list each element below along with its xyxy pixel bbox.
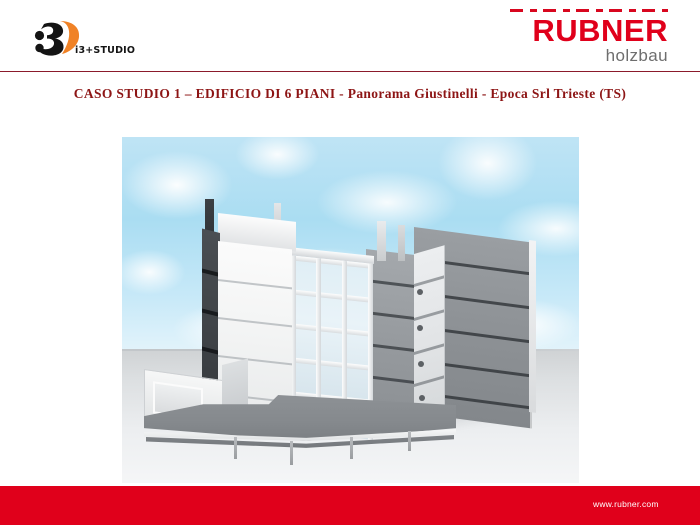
render-pilotis-column	[290, 441, 293, 465]
render-connector-stud	[417, 289, 423, 295]
render-grey-tower-fin	[377, 221, 386, 261]
render-grey-tower-side	[414, 245, 445, 420]
footer-website-url[interactable]: www.rubner.com	[593, 499, 659, 509]
slide-header: i3+STUDIO RUBNER holzbau	[0, 0, 700, 72]
rubner-logo: RUBNER holzbau	[488, 12, 668, 64]
render-connector-stud	[418, 361, 424, 367]
render-grey-tower-fin	[398, 225, 405, 261]
rubner-dashed-rule	[510, 9, 668, 12]
render-connector-stud	[417, 325, 423, 331]
header-divider	[0, 71, 700, 72]
render-grey-tower-front	[366, 249, 418, 423]
footer-bar: www.rubner.com	[0, 486, 700, 525]
rubner-subtitle: holzbau	[488, 46, 668, 65]
page-title: CASO STUDIO 1 – EDIFICIO DI 6 PIANI - Pa…	[0, 86, 700, 102]
slide-canvas: i3+STUDIO RUBNER holzbau CASO STUDIO 1 –…	[0, 0, 700, 525]
render-pilotis-column	[408, 431, 411, 451]
architectural-render-image	[122, 137, 579, 483]
rubner-wordmark: RUBNER	[488, 16, 668, 46]
studio-logo: i3+STUDIO	[30, 18, 150, 62]
render-connector-stud	[419, 395, 425, 401]
render-wall-edge-highlight	[529, 240, 536, 413]
studio-logo-label: i3+STUDIO	[75, 45, 135, 56]
render-pilotis-column	[234, 437, 237, 459]
render-building	[122, 137, 579, 483]
render-pilotis-column	[350, 437, 353, 459]
